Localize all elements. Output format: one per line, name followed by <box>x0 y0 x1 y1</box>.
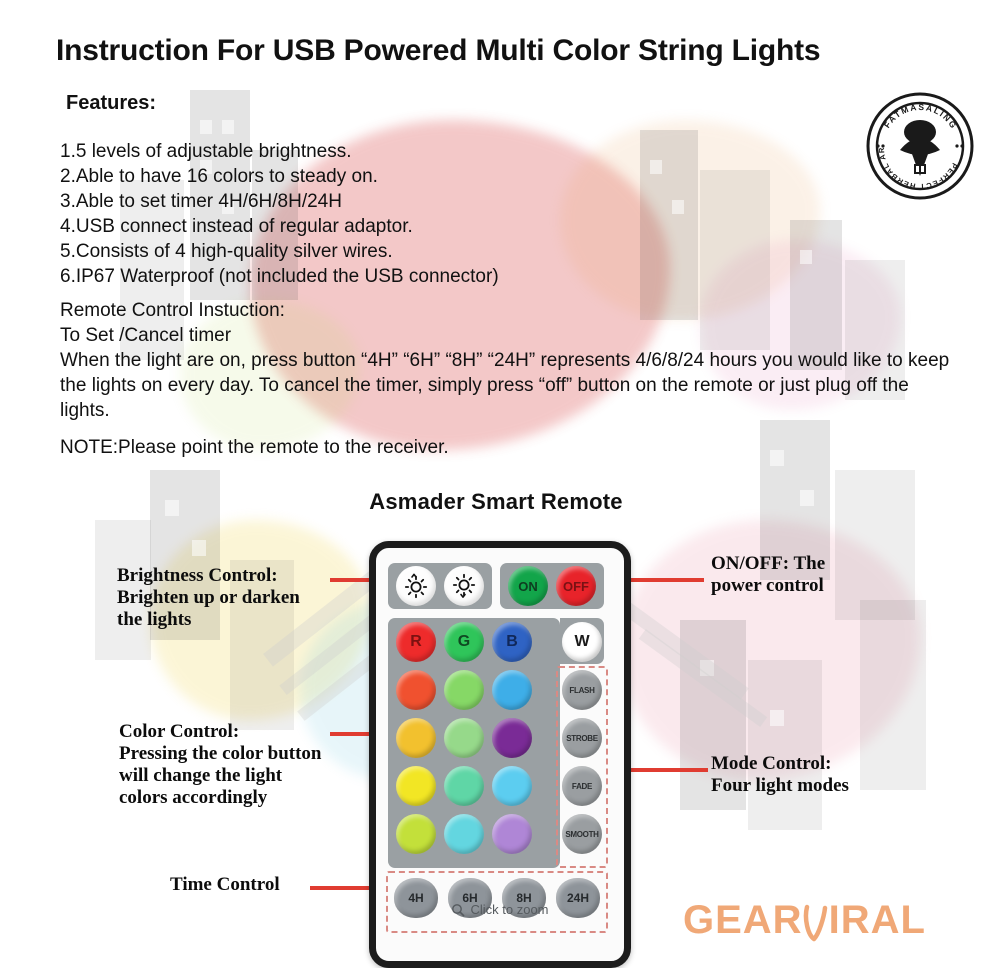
color-orangered-button[interactable] <box>396 670 436 710</box>
window-shape <box>200 120 212 134</box>
color-white-button[interactable]: W <box>562 622 602 662</box>
callout-line: Four light modes <box>711 775 849 797</box>
window-shape <box>700 660 714 676</box>
gearviral-watermark: GEAR IRAL <box>683 898 926 943</box>
color-green-button[interactable]: G <box>444 622 484 662</box>
callout-mode-control: Mode Control: Four light modes <box>711 753 849 797</box>
callout-line: the lights <box>117 609 300 631</box>
callout-line: Time Control <box>170 874 280 896</box>
window-shape <box>222 120 234 134</box>
remote-instruction-block: Remote Control Instuction: To Set /Cance… <box>60 298 960 423</box>
mode-smooth-button[interactable]: SMOOTH <box>562 814 602 854</box>
click-to-zoom-label: Click to zoom <box>470 902 548 917</box>
watermark-part2: IRAL <box>829 898 926 943</box>
power-on-label: ON <box>518 579 538 594</box>
callout-brightness-control: Brightness Control: Brighten up or darke… <box>117 565 300 631</box>
features-heading: Features: <box>66 92 156 115</box>
callout-line: Pressing the color button <box>119 743 322 765</box>
window-shape <box>770 450 784 466</box>
callout-line: colors accordingly <box>119 787 322 809</box>
color-red-button[interactable]: R <box>396 622 436 662</box>
remote-control-device: ON OFF R G B W <box>369 541 631 968</box>
window-shape <box>800 250 812 264</box>
power-off-label: OFF <box>563 579 589 594</box>
callout-line: Brightness Control: <box>117 565 300 587</box>
color-lime-button[interactable] <box>396 814 436 854</box>
feature-item: 3.Able to set timer 4H/6H/8H/24H <box>60 189 499 214</box>
color-green-label: G <box>458 633 470 651</box>
mode-smooth-label: SMOOTH <box>565 830 598 839</box>
color-springgreen-button[interactable] <box>444 766 484 806</box>
building-shape <box>860 600 926 790</box>
mode-strobe-button[interactable]: STROBE <box>562 718 602 758</box>
mode-strobe-label: STROBE <box>566 734 598 743</box>
brightness-up-button[interactable] <box>396 566 436 606</box>
color-blue-label: B <box>506 633 518 651</box>
click-to-zoom-hint[interactable]: Click to zoom <box>376 902 624 917</box>
callout-line: ON/OFF: The <box>711 553 825 575</box>
instruction-heading: Remote Control Instuction: <box>60 298 960 323</box>
mode-fade-button[interactable]: FADE <box>562 766 602 806</box>
color-yellow-button[interactable] <box>396 766 436 806</box>
window-shape <box>192 540 206 556</box>
color-lavender-button[interactable] <box>492 814 532 854</box>
callout-time-control: Time Control <box>170 874 280 896</box>
callout-line: Color Control: <box>119 721 322 743</box>
color-white-label: W <box>574 633 589 651</box>
feature-item: 6.IP67 Waterproof (not included the USB … <box>60 264 499 289</box>
ray-shape <box>639 629 767 727</box>
feature-item: 2.Able to have 16 colors to steady on. <box>60 164 499 189</box>
color-amber-button[interactable] <box>396 718 436 758</box>
color-lightgreen-button[interactable] <box>444 670 484 710</box>
sun-up-icon <box>403 573 429 599</box>
color-cyanblue-button[interactable] <box>492 766 532 806</box>
features-list: 1.5 levels of adjustable brightness. 2.A… <box>60 139 499 289</box>
window-shape <box>672 200 684 214</box>
watermark-v-icon <box>803 901 829 941</box>
callout-line: will change the light <box>119 765 322 787</box>
brand-stamp-logo: FATMASALING PERFECT HERBAL ART <box>866 92 974 200</box>
ray-shape <box>611 594 749 699</box>
power-on-button[interactable]: ON <box>508 566 548 606</box>
brightness-down-button[interactable] <box>444 566 484 606</box>
note-text: NOTE:Please point the remote to the rece… <box>60 437 449 459</box>
power-off-button[interactable]: OFF <box>556 566 596 606</box>
callout-onoff-control: ON/OFF: The power control <box>711 553 825 597</box>
sun-down-icon <box>451 573 477 599</box>
color-mintgreen-button[interactable] <box>444 718 484 758</box>
mode-flash-label: FLASH <box>569 686 594 695</box>
mode-flash-button[interactable]: FLASH <box>562 670 602 710</box>
color-purple-button[interactable] <box>492 718 532 758</box>
magnifier-icon <box>451 903 465 917</box>
instruction-sheet: Instruction For USB Powered Multi Color … <box>0 0 1000 968</box>
feature-item: 5.Consists of 4 high-quality silver wire… <box>60 239 499 264</box>
color-red-label: R <box>410 633 422 651</box>
watermark-part1: GEAR <box>683 898 803 943</box>
callout-line: Mode Control: <box>711 753 849 775</box>
remote-section-title: Asmader Smart Remote <box>0 489 996 515</box>
color-turquoise-button[interactable] <box>444 814 484 854</box>
mode-fade-label: FADE <box>572 782 592 791</box>
instruction-subheading: To Set /Cancel timer <box>60 323 960 348</box>
instruction-body: When the light are on, press button “4H”… <box>60 348 960 423</box>
building-shape <box>640 130 698 320</box>
window-shape <box>770 710 784 726</box>
callout-line: power control <box>711 575 825 597</box>
window-shape <box>650 160 662 174</box>
color-blue-button[interactable]: B <box>492 622 532 662</box>
callout-line: Brighten up or darken <box>117 587 300 609</box>
feature-item: 4.USB connect instead of regular adaptor… <box>60 214 499 239</box>
feature-item: 1.5 levels of adjustable brightness. <box>60 139 499 164</box>
page-title: Instruction For USB Powered Multi Color … <box>56 34 820 68</box>
building-shape <box>748 660 822 830</box>
color-skyblue-button[interactable] <box>492 670 532 710</box>
blob-orange <box>560 120 820 320</box>
callout-color-control: Color Control: Pressing the color button… <box>119 721 322 809</box>
